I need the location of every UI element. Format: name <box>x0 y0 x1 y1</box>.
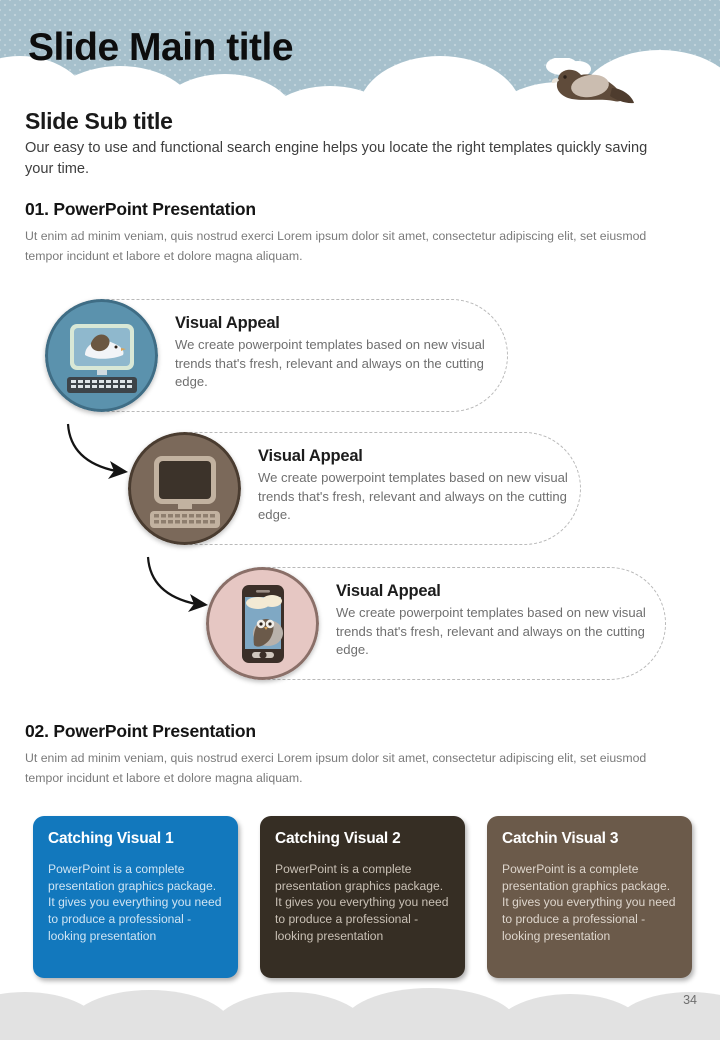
desktop-computer-bird-icon <box>45 299 158 412</box>
feature-title-1: Visual Appeal <box>175 314 497 333</box>
card-body-2: PowerPoint is a complete presentation gr… <box>275 861 450 944</box>
card-title-1: Catching Visual 1 <box>48 830 223 848</box>
feature-icon-circle-3 <box>206 567 319 680</box>
card-body-3: PowerPoint is a complete presentation gr… <box>502 861 677 944</box>
section-description-02: Ut enim ad minim veniam, quis nostrud ex… <box>25 749 685 789</box>
card-title-2: Catching Visual 2 <box>275 830 450 848</box>
feature-icon-circle-2 <box>128 432 241 545</box>
page-number: 34 <box>683 993 697 1007</box>
header-bird-icon <box>540 58 636 112</box>
section-title-02: 02. PowerPoint Presentation <box>25 721 256 742</box>
feature-body-1: We create powerpoint templates based on … <box>175 336 497 392</box>
feature-text-1: Visual Appeal We create powerpoint templ… <box>175 314 497 392</box>
page-subtitle-description: Our easy to use and functional search en… <box>25 138 665 181</box>
card-body-1: PowerPoint is a complete presentation gr… <box>48 861 223 944</box>
feature-body-2: We create powerpoint templates based on … <box>258 469 570 525</box>
feature-title-3: Visual Appeal <box>336 582 655 601</box>
feature-item-2[interactable]: Visual Appeal We create powerpoint templ… <box>128 432 581 545</box>
feature-title-2: Visual Appeal <box>258 447 570 466</box>
slide-canvas: Slide Main title Slide Sub title Our eas… <box>0 0 720 1040</box>
section-description-01: Ut enim ad minim veniam, quis nostrud ex… <box>25 227 685 267</box>
desktop-computer-icon <box>128 432 241 545</box>
section-title-01: 01. PowerPoint Presentation <box>25 199 256 220</box>
feature-item-3[interactable]: Visual Appeal We create powerpoint templ… <box>206 567 666 680</box>
feature-body-3: We create powerpoint templates based on … <box>336 604 655 660</box>
feature-item-1[interactable]: Visual Appeal We create powerpoint templ… <box>45 299 508 412</box>
card-title-3: Catchin Visual 3 <box>502 830 677 848</box>
feature-icon-circle-1 <box>45 299 158 412</box>
feature-text-3: Visual Appeal We create powerpoint templ… <box>336 582 655 660</box>
card-catching-visual-3[interactable]: Catchin Visual 3 PowerPoint is a complet… <box>487 816 692 978</box>
feature-text-2: Visual Appeal We create powerpoint templ… <box>258 447 570 525</box>
card-catching-visual-1[interactable]: Catching Visual 1 PowerPoint is a comple… <box>33 816 238 978</box>
footer-cloud-shapes <box>0 970 720 1040</box>
smartphone-owl-icon <box>206 567 319 680</box>
page-title: Slide Main title <box>28 28 293 67</box>
card-catching-visual-2[interactable]: Catching Visual 2 PowerPoint is a comple… <box>260 816 465 978</box>
page-subtitle: Slide Sub title <box>25 108 173 135</box>
